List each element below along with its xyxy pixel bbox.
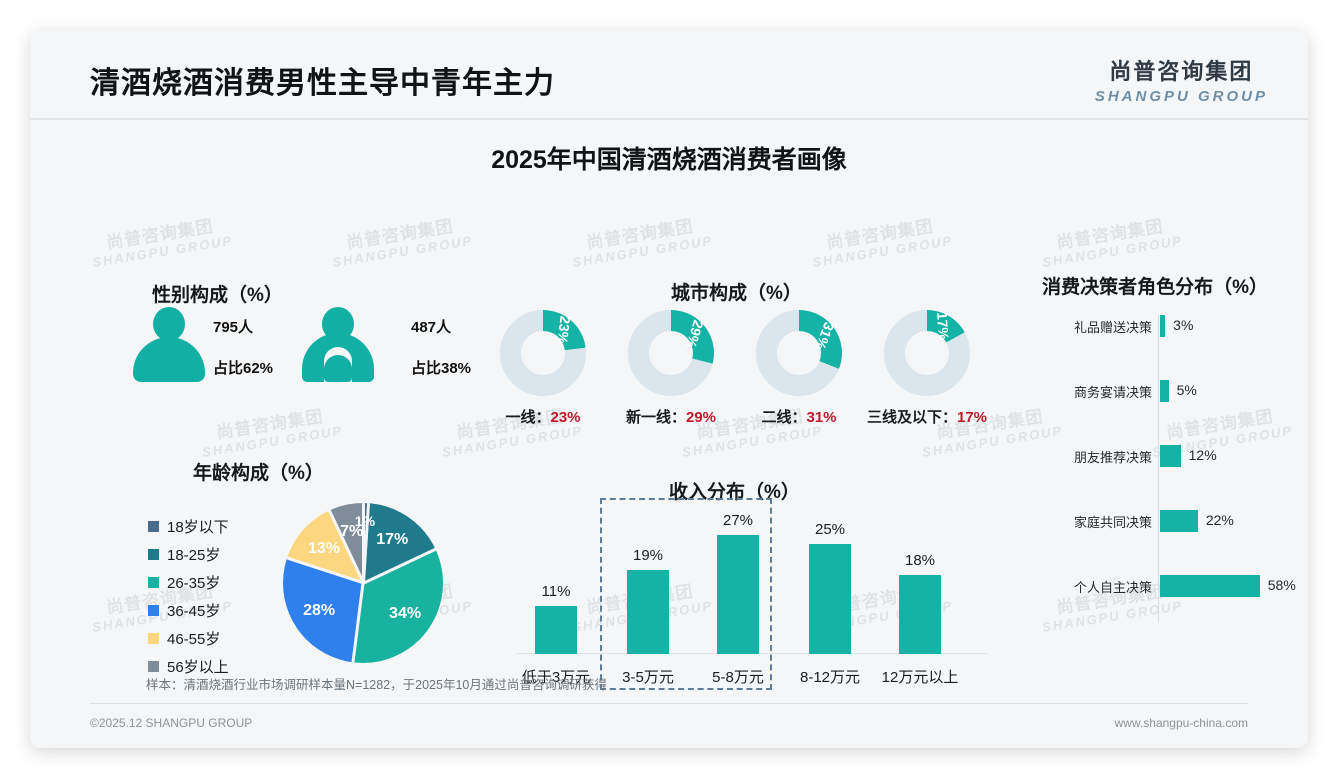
decision-bar-label: 商务宴请决策 [1074,382,1152,401]
income-bar [535,606,577,654]
decision-bar [1160,575,1260,597]
pie-value-label: 17% [376,531,408,549]
legend-label: 18岁以下 [167,516,229,537]
decision-bar [1160,510,1198,532]
pie-value-label: 28% [303,602,335,620]
slide-canvas: 尚普咨询集团SHANGPU GROUP尚普咨询集团SHANGPU GROUP尚普… [30,30,1308,748]
decision-bar-value: 5% [1177,382,1197,398]
legend-swatch [148,577,159,588]
watermark-text: 尚普咨询集团SHANGPU GROUP [808,214,954,270]
watermark-text: 尚普咨询集团SHANGPU GROUP [568,214,714,270]
city-section-title: 城市构成（%） [671,278,802,305]
decision-bar-row: 家庭共同决策22% [1050,510,1280,532]
donut-value-label: 17% [934,312,952,341]
slide-subtitle: 2025年中国清酒烧酒消费者画像 [30,140,1308,176]
decision-bar [1160,380,1169,402]
income-bar-chart: 11%低于3万元19%3-5万元27%5-8万元25%8-12万元18%12万元… [517,510,987,690]
income-bar-category: 8-12万元 [800,666,860,687]
income-bar-category: 5-8万元 [712,666,764,687]
city-donut-2: 29%新一线：29% [628,310,714,396]
decision-bar-row: 个人自主决策58% [1050,575,1280,597]
income-bar-group: 27%5-8万元 [717,535,759,654]
donut-caption: 三线及以下：17% [867,406,987,427]
income-bar-group: 25%8-12万元 [809,544,851,654]
female-count: 487人 [411,316,451,337]
income-bar-value: 25% [815,521,845,538]
decision-bar-label: 个人自主决策 [1074,577,1152,596]
income-bar [717,535,759,654]
legend-label: 18-25岁 [167,544,220,565]
donut-caption: 新一线：29% [626,406,716,427]
pie-value-label: 7% [340,523,363,541]
decision-bar-row: 朋友推荐决策12% [1050,445,1280,467]
male-share: 占比62% [213,357,273,378]
gender-section-title: 性别构成（%） [152,280,283,307]
legend-label: 36-45岁 [167,600,220,621]
slide-header: 清酒烧酒消费男性主导中青年主力 尚普咨询集团 SHANGPU GROUP [30,30,1308,120]
income-bar-category: 12万元以上 [882,666,959,687]
decision-bar-value: 22% [1206,512,1234,528]
legend-item: 18-25岁 [148,540,229,568]
decision-bar [1160,445,1181,467]
legend-label: 46-55岁 [167,628,220,649]
decision-bar-row: 礼品赠送决策3% [1050,315,1280,337]
income-bar-group: 11%低于3万元 [535,606,577,654]
income-bar [809,544,851,654]
income-bar-group: 18%12万元以上 [899,575,941,654]
donut-caption: 二线：31% [761,406,836,427]
decision-bar-label: 家庭共同决策 [1074,512,1152,531]
donut-ring: 23% [500,310,586,396]
city-donut-4: 17%三线及以下：17% [884,310,970,396]
age-pie-legend: 18岁以下18-25岁26-35岁36-45岁46-55岁56岁以上 [148,512,229,680]
donut-ring: 29% [628,310,714,396]
donut-caption: 一线：23% [505,406,580,427]
female-icon [302,307,374,382]
decision-bar-label: 礼品赠送决策 [1074,317,1152,336]
donut-value-label: 31% [812,320,837,352]
donut-hole [777,331,821,375]
decision-section-title: 消费决策者角色分布（%） [1042,272,1268,299]
income-bar-category: 3-5万元 [622,666,674,687]
age-section-title: 年龄构成（%） [193,458,324,485]
income-bar-value: 27% [723,512,753,529]
decision-bar-label: 朋友推荐决策 [1074,447,1152,466]
income-bar-value: 18% [905,552,935,569]
income-bar-group: 19%3-5万元 [627,570,669,654]
donut-ring: 31% [756,310,842,396]
legend-item: 26-35岁 [148,568,229,596]
legend-item: 36-45岁 [148,596,229,624]
footer-divider [90,703,1248,704]
city-donut-1: 23%一线：23% [500,310,586,396]
legend-swatch [148,633,159,644]
legend-swatch [148,521,159,532]
decision-bar [1160,315,1165,337]
income-bar [899,575,941,654]
decision-bar-value: 12% [1189,447,1217,463]
decision-bar-value: 3% [1173,317,1193,333]
watermark-text: 尚普咨询集团SHANGPU GROUP [198,404,344,460]
pie-value-label: 13% [308,540,340,558]
watermark-text: 尚普咨询集团SHANGPU GROUP [328,214,474,270]
legend-item: 18岁以下 [148,512,229,540]
legend-swatch [148,661,159,672]
logo-chinese-name: 尚普咨询集团 [1095,54,1268,86]
decision-bar-chart: 礼品赠送决策3%商务宴请决策5%朋友推荐决策12%家庭共同决策22%个人自主决策… [1050,315,1280,635]
income-bar-value: 11% [542,583,571,600]
page-title: 清酒烧酒消费男性主导中青年主力 [90,58,555,102]
logo-english-name: SHANGPU GROUP [1095,88,1268,105]
footer-copyright: ©2025.12 SHANGPU GROUP [90,716,252,730]
legend-swatch [148,549,159,560]
male-icon [133,307,205,382]
watermark-text: 尚普咨询集团SHANGPU GROUP [1038,214,1184,270]
brand-logo: 尚普咨询集团 SHANGPU GROUP [1095,54,1268,105]
donut-ring: 17% [884,310,970,396]
watermark-text: 尚普咨询集团SHANGPU GROUP [88,214,234,270]
legend-label: 26-35岁 [167,572,220,593]
decision-bar-row: 商务宴请决策5% [1050,380,1280,402]
donut-value-label: 23% [554,315,573,345]
female-share: 占比38% [411,357,471,378]
pie-value-label: 34% [389,605,421,623]
income-bar-value: 19% [633,547,663,564]
donut-value-label: 29% [684,318,708,350]
decision-bar-value: 58% [1268,577,1296,593]
legend-swatch [148,605,159,616]
city-donut-3: 31%二线：31% [756,310,842,396]
male-count: 795人 [213,316,253,337]
income-bar [627,570,669,654]
footer-website: www.shangpu-china.com [1115,716,1248,730]
sample-footnote: 样本：清酒烧酒行业市场调研样本量N=1282，于2025年10月通过尚普咨询调研… [146,674,607,693]
legend-item: 46-55岁 [148,624,229,652]
